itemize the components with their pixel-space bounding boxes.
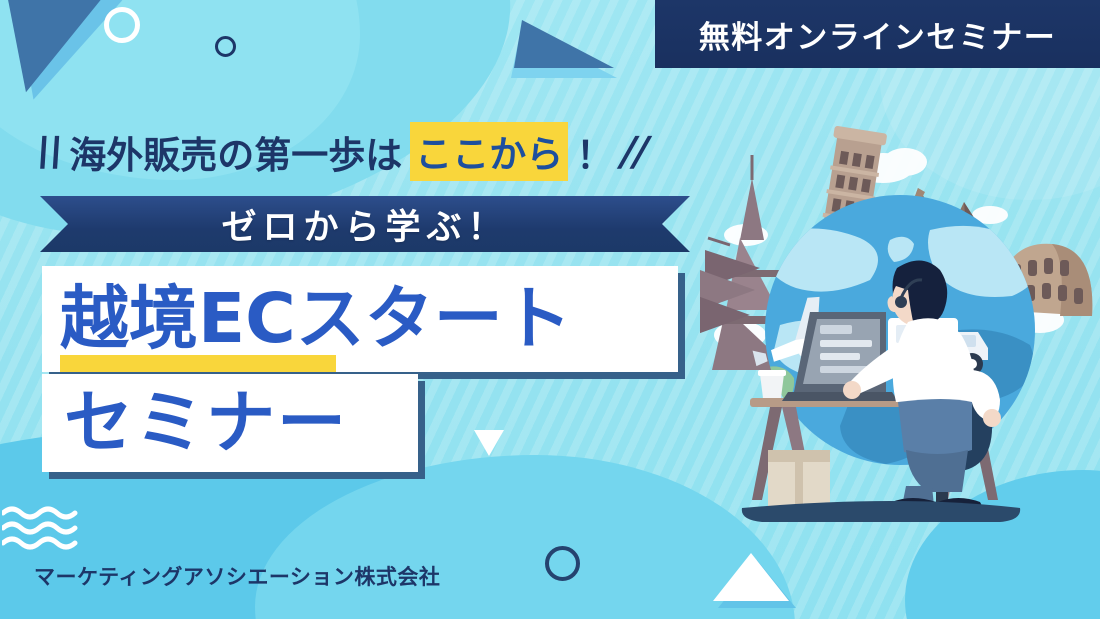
triangle-bottom-right-white-icon [713,553,789,601]
title-box-secondary: セミナー [42,374,418,472]
subheadline-suffix: ！ [576,125,613,179]
subheadline-prefix: 海外販売の第一歩は [69,125,402,179]
ribbon-label: ゼロから学ぶ！ [221,199,508,250]
double-slash-right-icon: // [616,132,651,172]
subheadline-highlight: ここから [410,122,568,181]
subheadline: // 海外販売の第一歩は ここから ！ // [36,122,646,181]
wave-lines-icon [2,505,78,551]
ribbon-banner: ゼロから学ぶ！ [40,196,690,252]
cardboard-box-icon [768,450,830,506]
title-line-2: セミナー [64,389,348,458]
triangle-top-center-icon [514,20,614,68]
title-highlight-underline [60,355,336,372]
triangle-down-white-icon [474,430,504,456]
circle-outline-navy-icon [545,546,580,581]
title-line-1: 越境ECスタート [60,285,572,354]
circle-outline-navy-small-icon [215,36,236,57]
free-online-seminar-badge: 無料オンラインセミナー [655,0,1100,68]
double-slash-left-icon: // [31,132,66,172]
company-name: マーケティングアソシエーション株式会社 [34,561,440,591]
free-online-seminar-label: 無料オンラインセミナー [699,12,1057,57]
global-ecommerce-illustration [700,120,1100,530]
seminar-banner: 無料オンラインセミナー // 海外販売の第一歩は ここから ！ // ゼロから学… [0,0,1100,619]
circle-outline-white-icon [104,7,140,43]
